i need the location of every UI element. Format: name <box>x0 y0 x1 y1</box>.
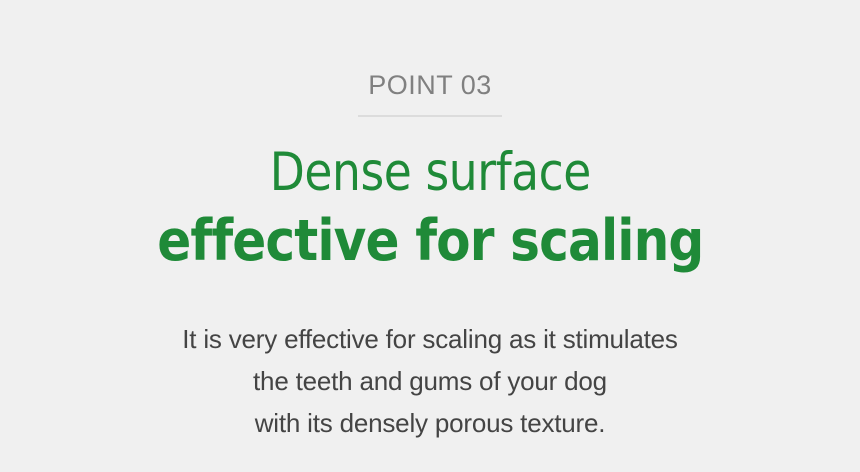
promo-slide: POINT 03 Dense surface effective for sca… <box>0 0 860 472</box>
body-line: with its densely porous texture. <box>182 402 677 444</box>
headline: Dense surface effective for scaling <box>120 143 741 274</box>
body-line: It is very effective for scaling as it s… <box>182 318 677 360</box>
headline-line-1: Dense surface <box>163 143 697 202</box>
body-line: the teeth and gums of your dog <box>182 360 677 402</box>
headline-line-2: effective for scaling <box>157 210 703 274</box>
eyebrow-block: POINT 03 <box>358 72 502 117</box>
body-copy: It is very effective for scaling as it s… <box>182 318 677 444</box>
point-label: POINT 03 <box>368 72 492 99</box>
eyebrow-divider <box>358 115 502 117</box>
